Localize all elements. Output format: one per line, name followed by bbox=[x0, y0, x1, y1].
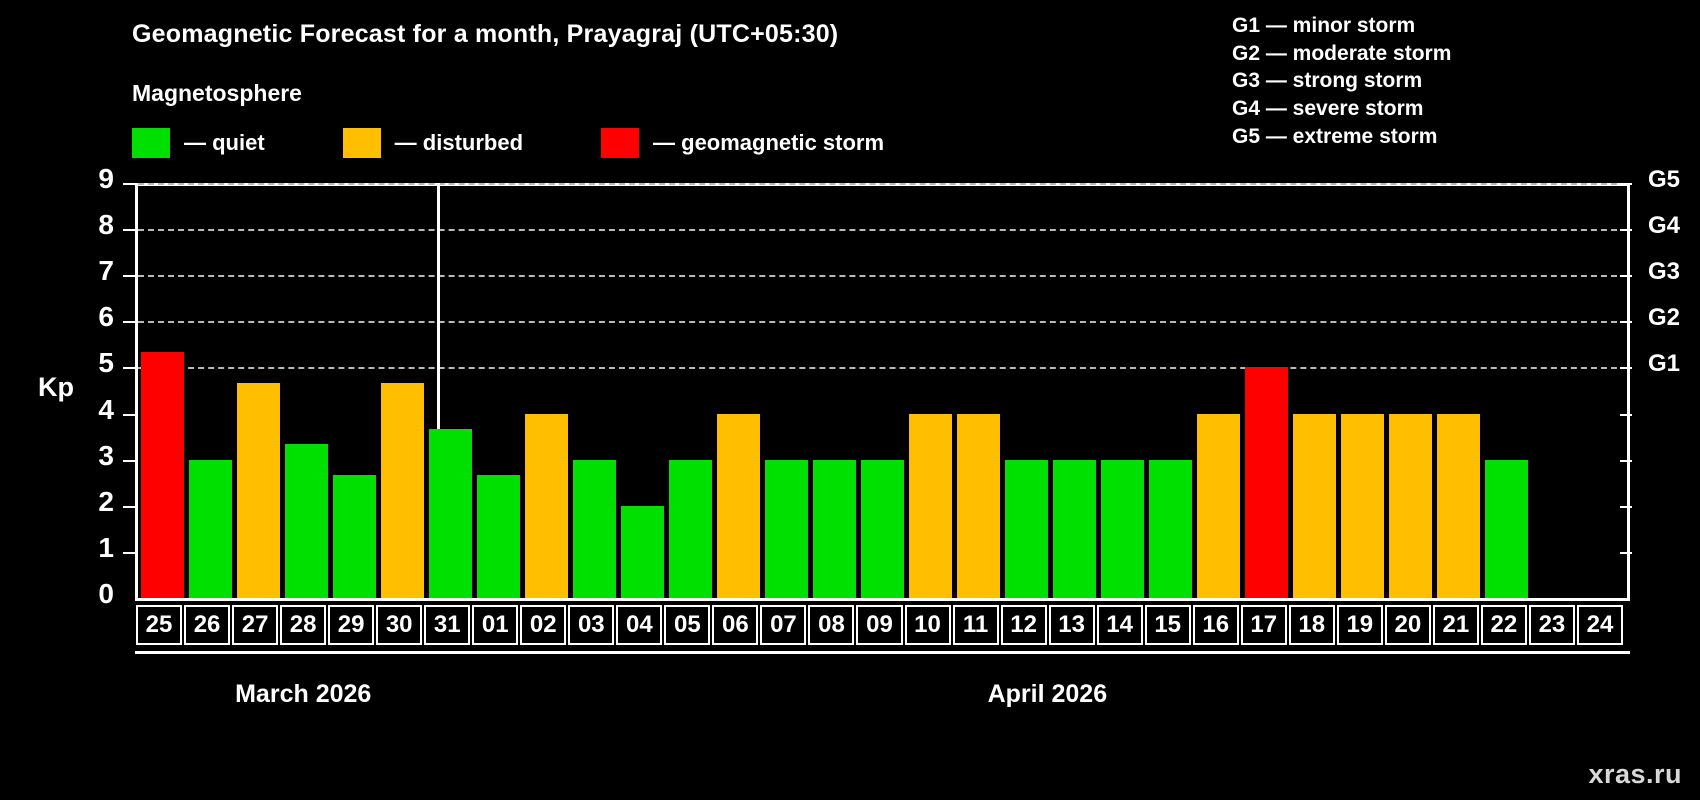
legend-swatch-quiet bbox=[132, 128, 170, 158]
bar-18 bbox=[1293, 414, 1336, 598]
date-box-30[interactable]: 30 bbox=[376, 605, 422, 645]
bar-20 bbox=[1389, 414, 1432, 598]
y-tick-mark-6 bbox=[123, 321, 135, 323]
bar-31 bbox=[429, 429, 472, 598]
bar-16 bbox=[1197, 414, 1240, 598]
y-tick-label-6: 6 bbox=[68, 301, 114, 333]
date-box-14[interactable]: 14 bbox=[1097, 605, 1143, 645]
date-box-13[interactable]: 13 bbox=[1049, 605, 1095, 645]
y-tick-label-1: 1 bbox=[68, 532, 114, 564]
date-box-01[interactable]: 01 bbox=[472, 605, 518, 645]
date-box-08[interactable]: 08 bbox=[808, 605, 854, 645]
y-tick-mark-7 bbox=[123, 275, 135, 277]
date-box-31[interactable]: 31 bbox=[424, 605, 470, 645]
y-tick-mark-9 bbox=[123, 183, 135, 185]
date-box-10[interactable]: 10 bbox=[905, 605, 951, 645]
bar-04 bbox=[621, 506, 664, 598]
bar-19 bbox=[1341, 414, 1384, 598]
bar-10 bbox=[909, 414, 952, 598]
bar-05 bbox=[669, 460, 712, 598]
g-scale-row-4: G4 — severe storm bbox=[1232, 95, 1451, 123]
date-box-15[interactable]: 15 bbox=[1145, 605, 1191, 645]
month-label: April 2026 bbox=[988, 680, 1108, 709]
date-box-05[interactable]: 05 bbox=[664, 605, 710, 645]
y-tick-mark-1 bbox=[123, 552, 135, 554]
y-tick-mark-4 bbox=[123, 414, 135, 416]
y-tick-label-4: 4 bbox=[68, 394, 114, 426]
date-box-02[interactable]: 02 bbox=[520, 605, 566, 645]
bar-13 bbox=[1053, 460, 1096, 598]
bar-06 bbox=[717, 414, 760, 598]
bar-series bbox=[138, 186, 1627, 598]
y-tick-label-7: 7 bbox=[68, 255, 114, 287]
g-scale-legend: G1 — minor stormG2 — moderate stormG3 — … bbox=[1232, 12, 1451, 151]
legend-swatch-disturbed bbox=[343, 128, 381, 158]
bar-01 bbox=[477, 475, 520, 598]
date-box-03[interactable]: 03 bbox=[568, 605, 614, 645]
date-box-07[interactable]: 07 bbox=[760, 605, 806, 645]
g-scale-row-3: G3 — strong storm bbox=[1232, 67, 1451, 95]
legend-label-quiet: — quiet bbox=[184, 130, 265, 156]
date-box-17[interactable]: 17 bbox=[1241, 605, 1287, 645]
y-tick-label-3: 3 bbox=[68, 440, 114, 472]
date-box-09[interactable]: 09 bbox=[856, 605, 902, 645]
legend-label-storm: — geomagnetic storm bbox=[653, 130, 884, 156]
date-box-26[interactable]: 26 bbox=[184, 605, 230, 645]
bar-17 bbox=[1245, 367, 1288, 598]
bar-28 bbox=[285, 444, 328, 598]
y-tick-mark-right-9 bbox=[1620, 183, 1632, 185]
legend: — quiet— disturbed— geomagnetic storm bbox=[132, 128, 962, 158]
legend-label-disturbed: — disturbed bbox=[395, 130, 523, 156]
date-box-06[interactable]: 06 bbox=[712, 605, 758, 645]
bar-21 bbox=[1437, 414, 1480, 598]
y-tick-label-2: 2 bbox=[68, 486, 114, 518]
gridline-kp-9 bbox=[138, 183, 1627, 185]
date-box-29[interactable]: 29 bbox=[328, 605, 374, 645]
right-label-G5: G5 bbox=[1648, 166, 1680, 194]
g-scale-row-2: G2 — moderate storm bbox=[1232, 40, 1451, 68]
date-axis: 2526272829303101020304050607080910111213… bbox=[135, 601, 1630, 649]
date-box-18[interactable]: 18 bbox=[1289, 605, 1335, 645]
bar-25 bbox=[141, 352, 184, 598]
bar-08 bbox=[813, 460, 856, 598]
date-box-12[interactable]: 12 bbox=[1001, 605, 1047, 645]
date-box-16[interactable]: 16 bbox=[1193, 605, 1239, 645]
right-label-G4: G4 bbox=[1648, 212, 1680, 240]
date-box-27[interactable]: 27 bbox=[232, 605, 278, 645]
legend-swatch-storm bbox=[601, 128, 639, 158]
y-tick-mark-5 bbox=[123, 367, 135, 369]
y-tick-label-9: 9 bbox=[68, 163, 114, 195]
date-box-24[interactable]: 24 bbox=[1577, 605, 1623, 645]
legend-item-quiet: — quiet bbox=[132, 128, 265, 158]
bar-30 bbox=[381, 383, 424, 598]
date-box-04[interactable]: 04 bbox=[616, 605, 662, 645]
y-tick-label-8: 8 bbox=[68, 209, 114, 241]
right-label-G1: G1 bbox=[1648, 350, 1680, 378]
date-box-20[interactable]: 20 bbox=[1385, 605, 1431, 645]
bar-22 bbox=[1485, 460, 1528, 598]
date-box-28[interactable]: 28 bbox=[280, 605, 326, 645]
bar-09 bbox=[861, 460, 904, 598]
bar-26 bbox=[189, 460, 232, 598]
y-tick-label-5: 5 bbox=[68, 347, 114, 379]
bar-07 bbox=[765, 460, 808, 598]
bar-11 bbox=[957, 414, 1000, 598]
y-tick-mark-2 bbox=[123, 506, 135, 508]
date-box-25[interactable]: 25 bbox=[136, 605, 182, 645]
g-scale-row-5: G5 — extreme storm bbox=[1232, 123, 1451, 151]
date-box-19[interactable]: 19 bbox=[1337, 605, 1383, 645]
date-box-22[interactable]: 22 bbox=[1481, 605, 1527, 645]
bar-27 bbox=[237, 383, 280, 598]
bar-02 bbox=[525, 414, 568, 598]
bar-14 bbox=[1101, 460, 1144, 598]
y-tick-mark-3 bbox=[123, 460, 135, 462]
watermark: xras.ru bbox=[1588, 759, 1682, 790]
page-title: Geomagnetic Forecast for a month, Prayag… bbox=[132, 20, 838, 49]
bar-03 bbox=[573, 460, 616, 598]
legend-item-storm: — geomagnetic storm bbox=[601, 128, 884, 158]
bar-29 bbox=[333, 475, 376, 598]
bar-15 bbox=[1149, 460, 1192, 598]
y-tick-mark-8 bbox=[123, 229, 135, 231]
date-axis-baseline bbox=[135, 651, 1630, 654]
chart-subtitle: Magnetosphere bbox=[132, 80, 302, 107]
g-scale-row-1: G1 — minor storm bbox=[1232, 12, 1451, 40]
y-tick-label-0: 0 bbox=[68, 578, 114, 610]
legend-item-disturbed: — disturbed bbox=[343, 128, 523, 158]
bar-12 bbox=[1005, 460, 1048, 598]
right-label-G3: G3 bbox=[1648, 258, 1680, 286]
date-box-11[interactable]: 11 bbox=[953, 605, 999, 645]
geomagnetic-forecast-chart: Geomagnetic Forecast for a month, Prayag… bbox=[0, 0, 1700, 800]
date-box-21[interactable]: 21 bbox=[1433, 605, 1479, 645]
right-label-G2: G2 bbox=[1648, 304, 1680, 332]
month-label: March 2026 bbox=[235, 680, 371, 709]
date-box-23[interactable]: 23 bbox=[1529, 605, 1575, 645]
